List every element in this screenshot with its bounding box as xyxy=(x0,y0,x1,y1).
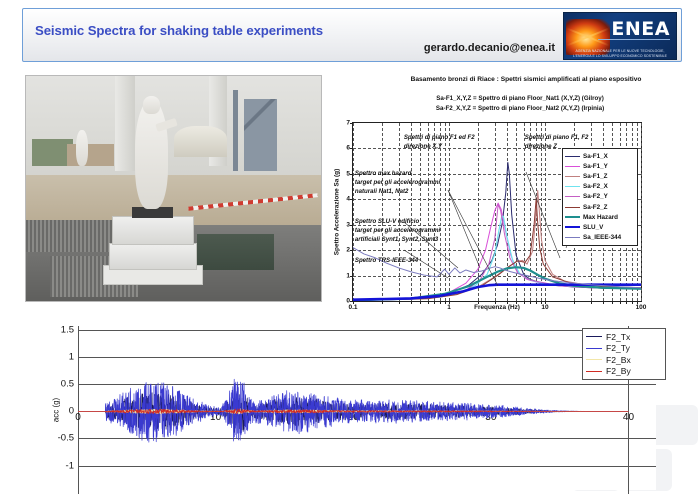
x-tick xyxy=(632,301,633,304)
x-tick-label: 100 xyxy=(636,304,647,311)
x-tick xyxy=(626,301,627,304)
spectra-legend: Sa-F1_XSa-F1_YSa-F1_ZSa-F2_XSa-F2_YSa-F2… xyxy=(562,148,638,246)
legend-swatch xyxy=(565,156,580,157)
legend-swatch xyxy=(586,348,602,349)
lab-photo xyxy=(25,75,322,302)
photo-statue-replica xyxy=(135,101,167,209)
legend-item[interactable]: Sa-F1_Z xyxy=(565,171,634,181)
logo-divider xyxy=(598,39,670,40)
legend-label: Sa-F2_X xyxy=(583,183,608,190)
x-tick-label: 10 xyxy=(541,304,548,311)
logo-subtitle: AGENZIA NAZIONALE PER LE NUOVE TECNOLOGI… xyxy=(566,49,674,58)
x-tick xyxy=(428,301,429,304)
series-line xyxy=(353,248,641,288)
x-tick xyxy=(620,301,621,304)
y-tick xyxy=(350,301,353,302)
legend-swatch xyxy=(565,186,580,187)
x-tick xyxy=(411,301,412,304)
legend-item[interactable]: SLU_V xyxy=(565,222,634,232)
legend-item[interactable]: Sa-F1_X xyxy=(565,151,634,161)
y-tick-label: 0.5 xyxy=(61,379,74,390)
legend-label: F2_By xyxy=(606,366,631,376)
legend-item[interactable]: F2_Ty xyxy=(586,343,662,355)
legend-swatch xyxy=(565,166,580,167)
photo-steel-frame xyxy=(233,90,239,171)
x-tick-label: 0.1 xyxy=(348,304,357,311)
x-tick xyxy=(445,301,446,304)
legend-item[interactable]: F2_By xyxy=(586,366,662,378)
y-tick-label: 1.5 xyxy=(61,325,74,336)
legend-label: Sa-F2_Z xyxy=(583,204,608,211)
slide-canvas: Seismic Spectra for shaking table experi… xyxy=(0,0,700,495)
x-tick xyxy=(536,301,537,304)
x-tick xyxy=(612,301,613,304)
legend-item[interactable]: F2_Tx xyxy=(586,331,662,343)
legend-swatch xyxy=(565,216,580,218)
x-tick xyxy=(507,301,508,304)
legend-swatch xyxy=(565,196,580,197)
timehistory-legend: F2_TxF2_TyF2_BxF2_By xyxy=(582,328,666,380)
legend-label: F2_Bx xyxy=(606,355,631,365)
legend-label: Sa-F1_Z xyxy=(583,173,608,180)
spectra-x-axis-label: Frequenza (Hz) xyxy=(474,304,520,311)
subtitle-line-2: Sa-F2_X,Y,Z = Spettro di piano Floor_Nat… xyxy=(350,104,690,114)
x-tick xyxy=(478,301,479,304)
x-tick xyxy=(516,301,517,304)
x-tick xyxy=(530,301,531,304)
x-tick xyxy=(495,301,496,304)
legend-item[interactable]: F2_Bx xyxy=(586,354,662,366)
gridline-vertical xyxy=(641,123,642,301)
legend-label: Sa-F1_Y xyxy=(583,163,608,170)
legend-swatch xyxy=(565,176,580,177)
y-tick-label: 1 xyxy=(69,352,74,363)
legend-label: Max Hazard xyxy=(583,214,618,221)
legend-label: F2_Ty xyxy=(606,343,630,353)
photo-table-panel xyxy=(197,234,274,270)
photo-equipment xyxy=(67,144,114,167)
x-tick xyxy=(440,301,441,304)
legend-swatch xyxy=(586,359,602,360)
x-tick xyxy=(591,301,592,304)
chart-annotation: Spettro SLU-V edificiotarget per gli acc… xyxy=(355,218,440,244)
legend-label: Sa-F1_X xyxy=(583,153,608,160)
timehistory-y-axis-label: acc (g) xyxy=(52,398,61,422)
photo-table-grating xyxy=(26,220,115,252)
enea-logo: ENEA AGENZIA NAZIONALE PER LE NUOVE TECN… xyxy=(563,12,677,60)
chart-annotation: Spettri di piano F1 ed F2direzione X,Y xyxy=(404,134,475,152)
legend-item[interactable]: Sa_IEEE-344 xyxy=(565,233,634,243)
plot-curves xyxy=(78,330,656,490)
photo-statue-head xyxy=(143,96,161,114)
photo-pedestal-upper xyxy=(112,216,195,245)
legend-item[interactable]: Max Hazard xyxy=(565,212,634,222)
legend-label: Sa_IEEE-344 xyxy=(583,234,621,241)
y-tick-label: -1 xyxy=(66,460,74,471)
legend-label: SLU_V xyxy=(583,224,603,231)
x-tick xyxy=(603,301,604,304)
x-tick xyxy=(420,301,421,304)
timehistory-plot-area: acc (g) -1-0.500.511.5010203040 xyxy=(78,330,656,490)
photo-steel-frame xyxy=(244,99,276,171)
subtitle-line-1: Sa-F1_X,Y,Z = Spettro di piano Floor_Nat… xyxy=(350,94,690,104)
timehistory-chart: acc (g) -1-0.500.511.5010203040 F2_TxF2_… xyxy=(46,326,694,494)
contact-email[interactable]: gerardo.decanio@enea.it xyxy=(424,42,555,54)
chart-annotation: Spettro TRS-IEEE-344 xyxy=(355,257,418,266)
photo-background-statue xyxy=(76,130,88,166)
spectra-chart: Basamento bronzi di Riace : Spettri sism… xyxy=(330,72,696,322)
x-tick xyxy=(399,301,400,304)
spectra-y-axis-label: Spettro Accelerazione Sa (g) xyxy=(334,169,341,255)
spectra-chart-title: Basamento bronzi di Riace : Spettri sism… xyxy=(356,76,696,83)
legend-label: Sa-F2_Y xyxy=(583,193,608,200)
photo-pedestal-lower xyxy=(109,243,198,270)
photo-equipment xyxy=(174,126,227,158)
photo-column xyxy=(115,76,136,171)
chart-annotation: Spettro max hazardtarget per gli acceler… xyxy=(355,170,440,196)
y-tick-label: -0.5 xyxy=(58,433,74,444)
legend-label: F2_Tx xyxy=(606,332,630,342)
legend-swatch xyxy=(586,336,602,337)
legend-item[interactable]: Sa-F2_Z xyxy=(565,202,634,212)
page-title: Seismic Spectra for shaking table experi… xyxy=(35,23,323,38)
legend-swatch xyxy=(586,371,602,372)
legend-item[interactable]: Sa-F2_X xyxy=(565,182,634,192)
legend-swatch xyxy=(565,237,580,238)
y-tick-label: 0 xyxy=(69,406,74,417)
slide-header: Seismic Spectra for shaking table experi… xyxy=(22,8,682,62)
x-tick-label: 1 xyxy=(447,304,451,311)
legend-item[interactable]: Sa-F1_Y xyxy=(565,161,634,171)
legend-swatch xyxy=(565,207,580,208)
legend-item[interactable]: Sa-F2_Y xyxy=(565,192,634,202)
logo-wordmark: ENEA xyxy=(611,18,670,40)
legend-swatch xyxy=(565,226,580,228)
spectra-chart-subtitle: Sa-F1_X,Y,Z = Spettro di piano Floor_Nat… xyxy=(350,94,690,113)
x-tick xyxy=(524,301,525,304)
x-tick xyxy=(574,301,575,304)
x-tick xyxy=(434,301,435,304)
x-tick xyxy=(382,301,383,304)
